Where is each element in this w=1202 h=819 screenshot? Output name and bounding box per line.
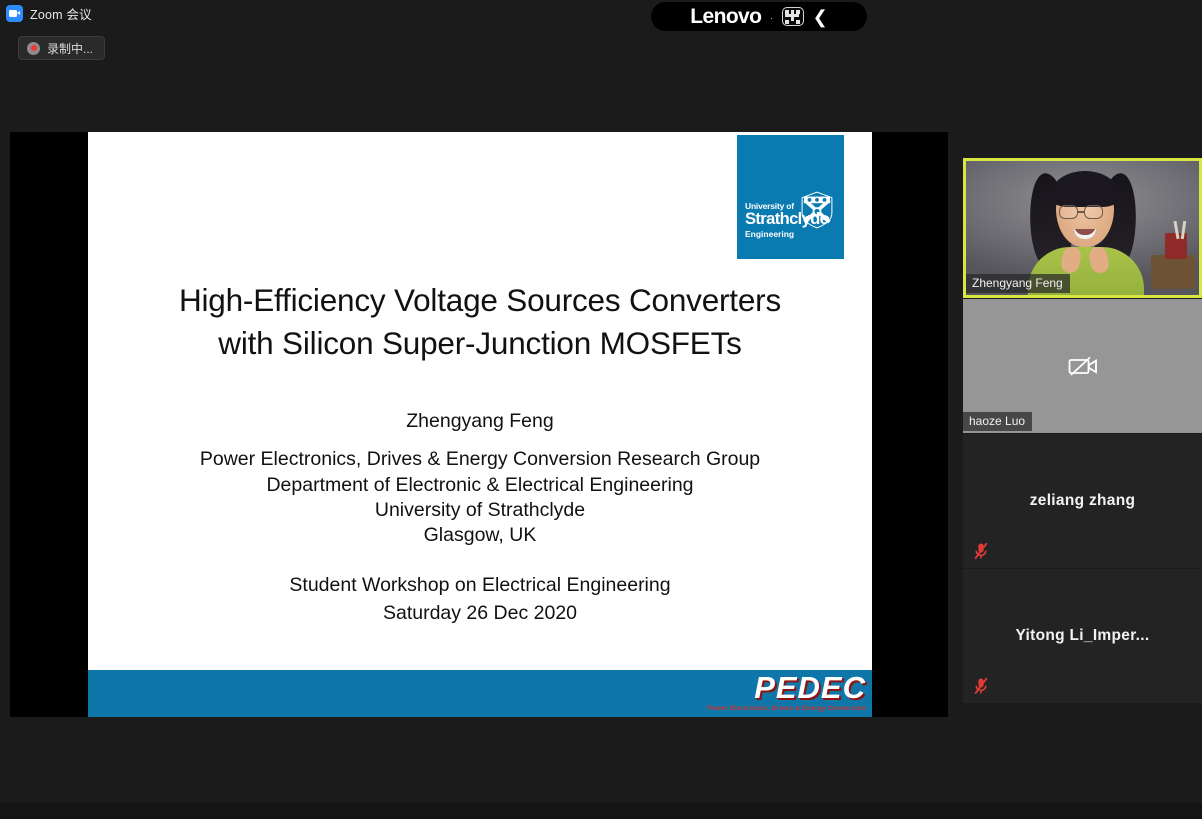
record-dot-icon (27, 42, 40, 55)
participant-tile-yitong-li[interactable]: Yitong Li_Imper... (963, 569, 1202, 703)
slide-event-block: Student Workshop on Electrical Engineeri… (88, 572, 872, 627)
strathclyde-wordmark: University of Strathclyde Engineering (745, 202, 828, 239)
slide-affiliation-line-2: Department of Electronic & Electrical En… (88, 473, 872, 498)
participant-tile-zeliang-zhang[interactable]: zeliang zhang (963, 434, 1202, 568)
slide-title: High-Efficiency Voltage Sources Converte… (88, 279, 872, 366)
grid-layout-icon[interactable] (782, 7, 804, 26)
recording-label: 录制中... (47, 40, 93, 57)
lenovo-trademark: . (770, 12, 772, 21)
strathclyde-name: Strathclyde (745, 211, 828, 228)
recording-status-button[interactable]: 录制中... (18, 36, 105, 60)
slide-event-name: Student Workshop on Electrical Engineeri… (88, 572, 872, 600)
microphone-muted-icon (973, 542, 989, 560)
slide-author-name: Zhengyang Feng (88, 409, 872, 434)
participant-name-label: haoze Luo (963, 412, 1032, 431)
participant-tile-zhengyang-feng[interactable]: Zhengyang Feng (963, 158, 1202, 298)
pedec-wordmark: PEDEC (707, 672, 866, 703)
window-titlebar: Zoom 会议 (0, 0, 1202, 26)
pedec-tagline: Power Electronics, Drives & Energy Conve… (707, 706, 866, 713)
lenovo-brand-label: Lenovo (690, 5, 761, 29)
chevron-left-icon[interactable]: ❮ (813, 8, 828, 26)
window-bottom-bar (0, 803, 1202, 819)
participant-name-label: Yitong Li_Imper... (963, 569, 1202, 703)
zoom-meeting-window: Zoom 会议 Lenovo . ❮ 录制中... (0, 0, 1202, 819)
window-title: Zoom 会议 (30, 4, 92, 23)
participant-name-label: Zhengyang Feng (966, 274, 1070, 293)
participant-tile-haoze-luo[interactable]: haoze Luo (963, 299, 1202, 433)
slide-event-date: Saturday 26 Dec 2020 (88, 600, 872, 628)
slide-affiliation-line-4: Glasgow, UK (88, 523, 872, 548)
presentation-slide: University of Strathclyde Engineering Hi… (88, 132, 872, 717)
shared-screen-stage[interactable]: University of Strathclyde Engineering Hi… (10, 132, 948, 717)
strathclyde-engineering: Engineering (745, 230, 828, 239)
lenovo-overlay-bar: Lenovo . ❮ (651, 2, 867, 31)
slide-title-line-1: High-Efficiency Voltage Sources Converte… (102, 279, 858, 322)
slide-affiliation-line-1: Power Electronics, Drives & Energy Conve… (88, 447, 872, 472)
zoom-video-icon (6, 5, 23, 22)
participant-name-label: zeliang zhang (963, 434, 1202, 568)
pedec-logo: PEDEC Power Electronics, Drives & Energy… (707, 672, 866, 713)
slide-footer-bar: PEDEC Power Electronics, Drives & Energy… (88, 670, 872, 717)
camera-off-icon (1068, 355, 1098, 377)
strathclyde-logo: University of Strathclyde Engineering (737, 135, 844, 259)
microphone-muted-icon (973, 677, 989, 695)
slide-author-block: Zhengyang Feng Power Electronics, Drives… (88, 409, 872, 549)
slide-title-line-2: with Silicon Super-Junction MOSFETs (102, 322, 858, 365)
slide-affiliation-line-3: University of Strathclyde (88, 498, 872, 523)
participant-filmstrip[interactable]: Zhengyang Feng haoze Luo zeliang zhang Y… (963, 158, 1202, 704)
